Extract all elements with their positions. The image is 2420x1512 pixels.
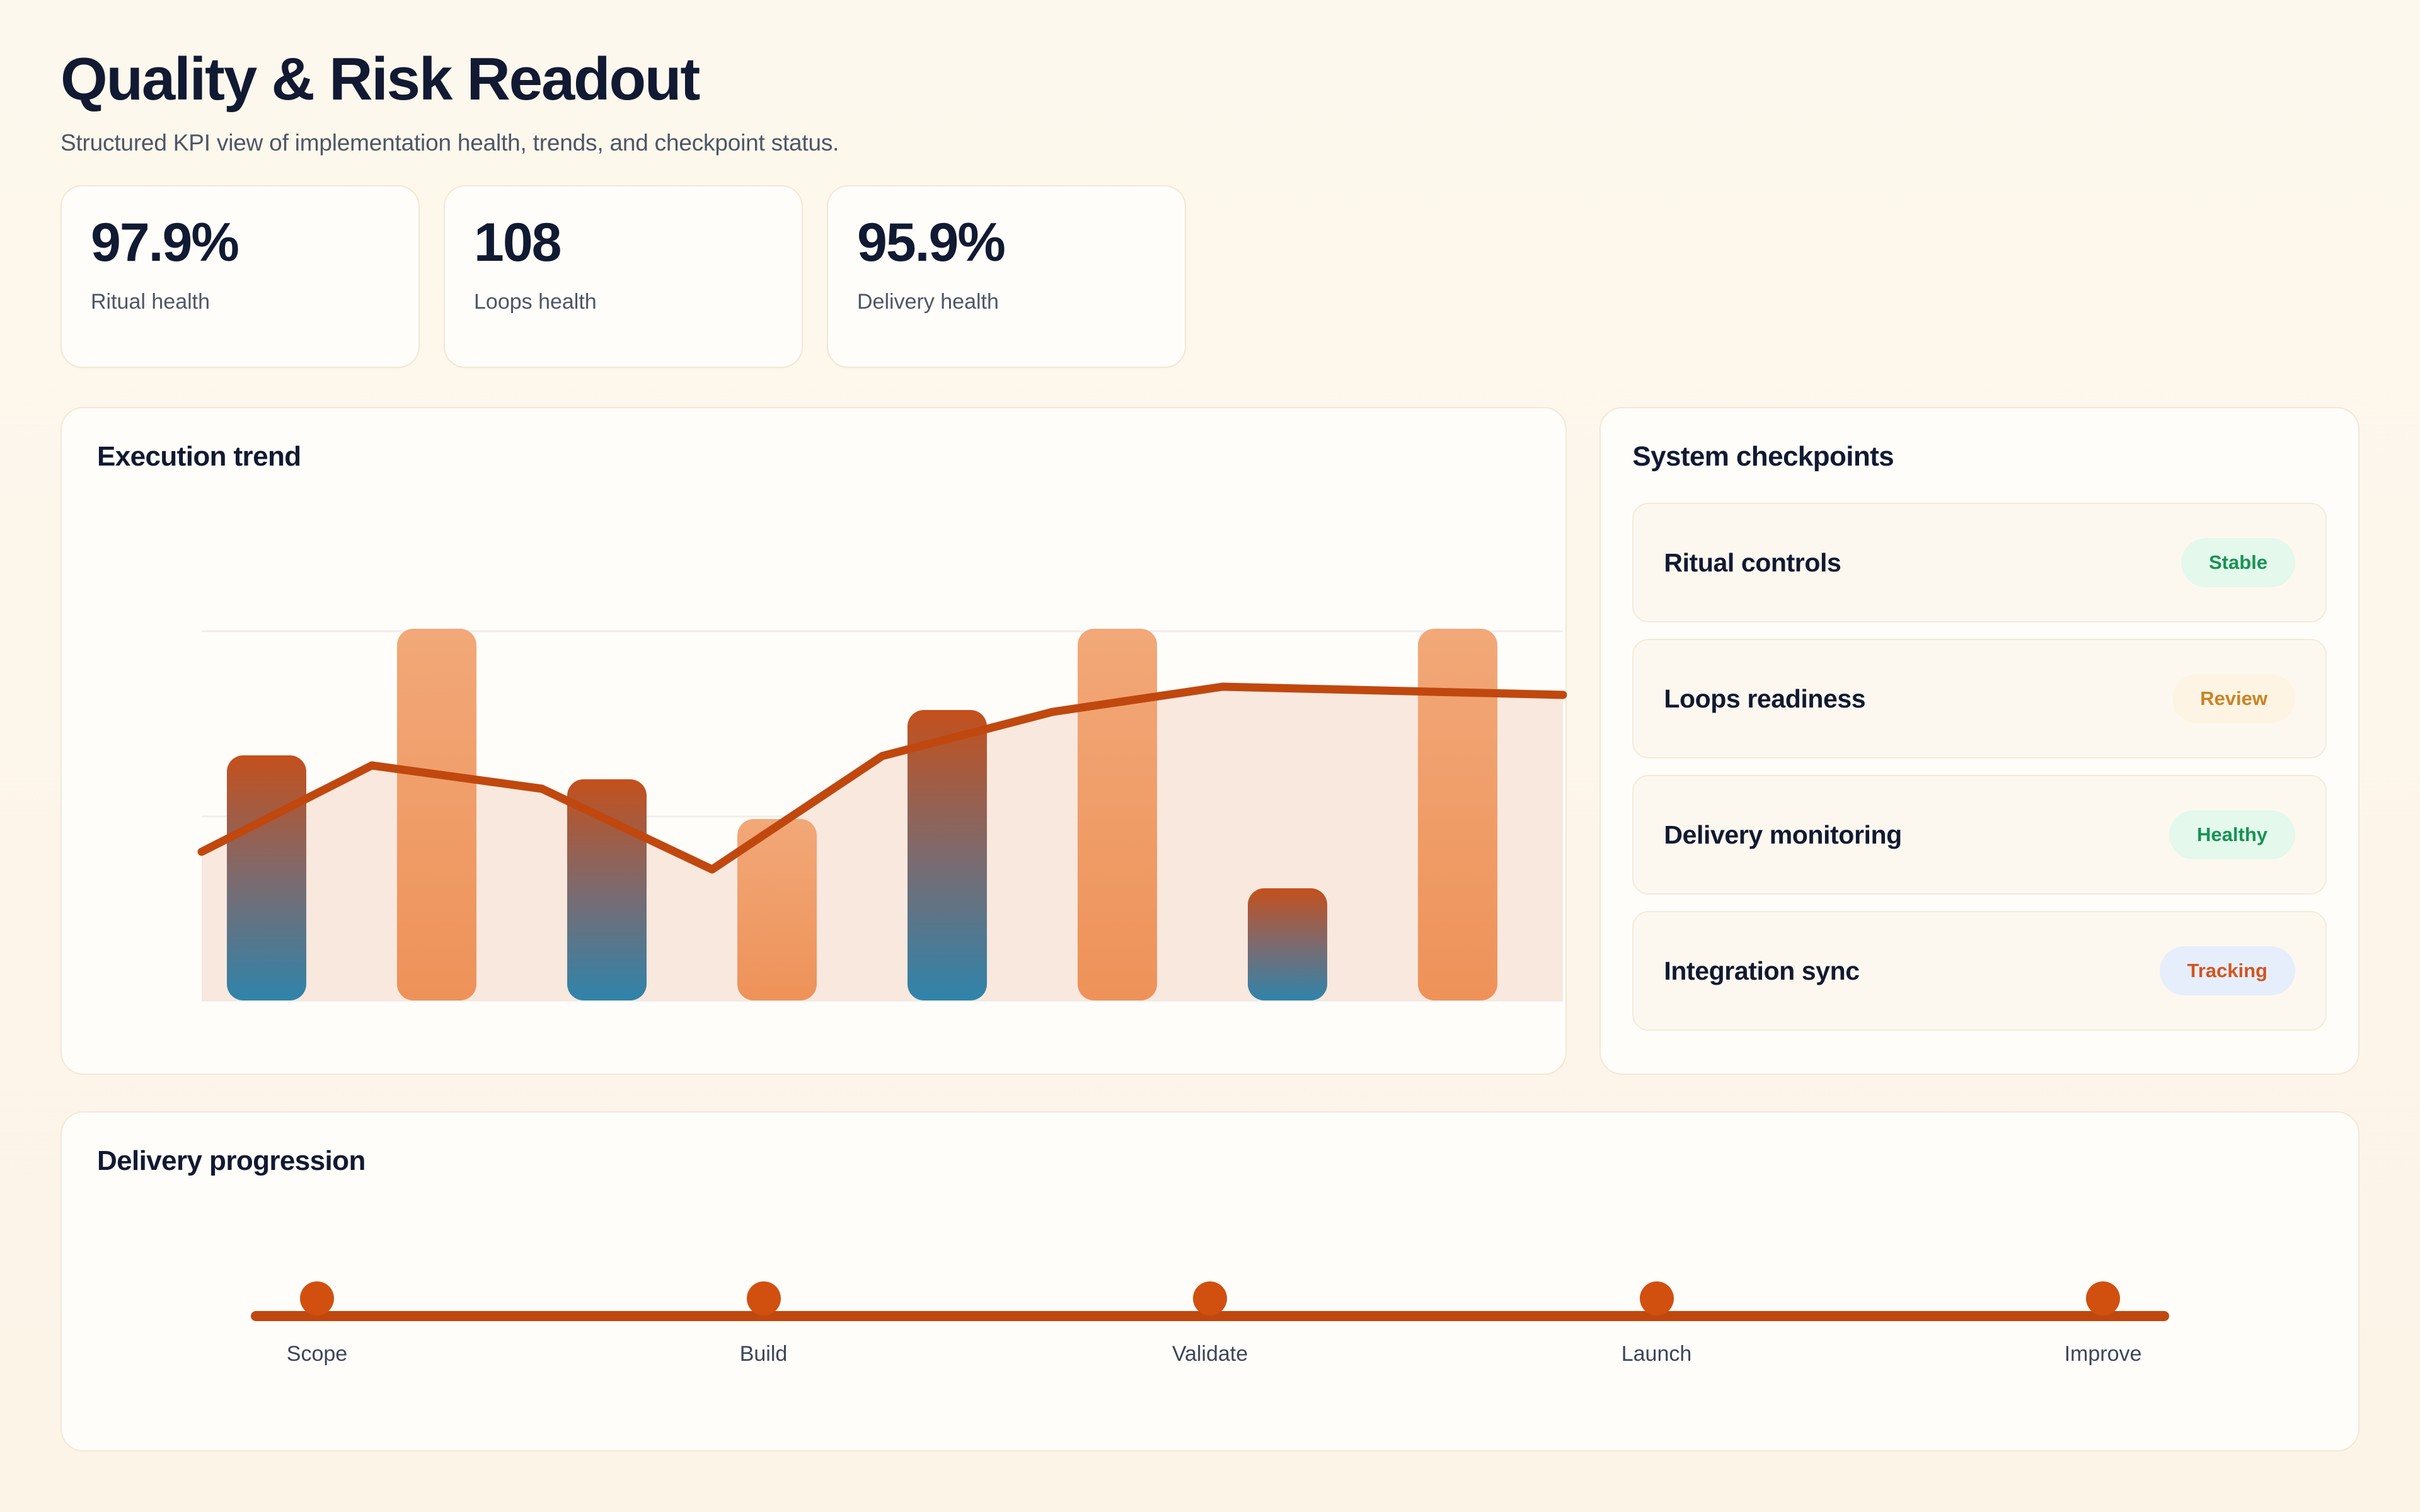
timeline-steps: Scope Build Validate Launch Improve: [251, 1281, 2169, 1366]
checkpoint-row-loops-readiness[interactable]: Loops readiness Review: [1632, 639, 2327, 759]
kpi-card-ritual-health[interactable]: 97.9% Ritual health: [60, 185, 420, 368]
page-subtitle: Structured KPI view of implementation he…: [60, 130, 2359, 156]
status-badge: Tracking: [2160, 946, 2296, 995]
timeline-dot-icon: [747, 1281, 781, 1315]
timeline-step-label: Scope: [287, 1342, 347, 1366]
kpi-label: Loops health: [474, 290, 773, 314]
timeline-dot-icon: [2086, 1281, 2120, 1315]
execution-trend-chart[interactable]: [202, 605, 1563, 1002]
kpi-card-row: 97.9% Ritual health 108 Loops health 95.…: [60, 185, 2359, 368]
delivery-progression-title: Delivery progression: [97, 1145, 2323, 1177]
page-title: Quality & Risk Readout: [60, 49, 2359, 110]
execution-trend-title: Execution trend: [97, 441, 1530, 472]
kpi-card-loops-health[interactable]: 108 Loops health: [444, 185, 803, 368]
timeline-dot-icon: [300, 1281, 334, 1315]
delivery-progression-card: Delivery progression Scope Build Validat…: [60, 1111, 2359, 1452]
timeline-step-label: Build: [740, 1342, 788, 1366]
timeline-step-improve[interactable]: Improve: [2037, 1281, 2169, 1366]
checkpoint-list: Ritual controls Stable Loops readiness R…: [1632, 503, 2327, 1031]
checkpoint-label: Loops readiness: [1664, 684, 1865, 714]
timeline-dot-icon: [1640, 1281, 1674, 1315]
kpi-card-delivery-health[interactable]: 95.9% Delivery health: [827, 185, 1186, 368]
timeline-step-scope[interactable]: Scope: [251, 1281, 383, 1366]
kpi-value: 97.9%: [91, 214, 389, 271]
kpi-label: Delivery health: [857, 290, 1156, 314]
checkpoint-label: Delivery monitoring: [1664, 820, 1901, 850]
timeline-step-validate[interactable]: Validate: [1144, 1281, 1276, 1366]
dashboard-page: Quality & Risk Readout Structured KPI vi…: [0, 0, 2420, 1512]
timeline-step-label: Validate: [1172, 1342, 1248, 1366]
checkpoint-label: Ritual controls: [1664, 548, 1841, 578]
progression-timeline: Scope Build Validate Launch Improve: [251, 1281, 2169, 1401]
status-badge: Healthy: [2169, 810, 2295, 859]
timeline-dot-icon: [1193, 1281, 1227, 1315]
timeline-step-build[interactable]: Build: [698, 1281, 830, 1366]
checkpoint-row-delivery-monitoring[interactable]: Delivery monitoring Healthy: [1632, 775, 2327, 895]
checkpoint-row-integration-sync[interactable]: Integration sync Tracking: [1632, 911, 2327, 1031]
system-checkpoints-card: System checkpoints Ritual controls Stabl…: [1599, 407, 2359, 1075]
timeline-step-label: Launch: [1622, 1342, 1692, 1366]
main-content-row: Execution trend: [60, 407, 2359, 1075]
status-badge: Stable: [2181, 538, 2295, 587]
kpi-label: Ritual health: [91, 290, 389, 314]
kpi-value: 95.9%: [857, 214, 1156, 271]
checkpoint-label: Integration sync: [1664, 956, 1859, 986]
status-badge: Review: [2172, 674, 2295, 723]
execution-trend-card: Execution trend: [60, 407, 1567, 1075]
page-header: Quality & Risk Readout Structured KPI vi…: [60, 49, 2359, 156]
timeline-step-label: Improve: [2065, 1342, 2142, 1366]
checkpoint-row-ritual-controls[interactable]: Ritual controls Stable: [1632, 503, 2327, 622]
system-checkpoints-title: System checkpoints: [1632, 441, 2327, 472]
timeline-step-launch[interactable]: Launch: [1591, 1281, 1723, 1366]
chart-svg: [202, 605, 1563, 1002]
kpi-value: 108: [474, 214, 773, 271]
